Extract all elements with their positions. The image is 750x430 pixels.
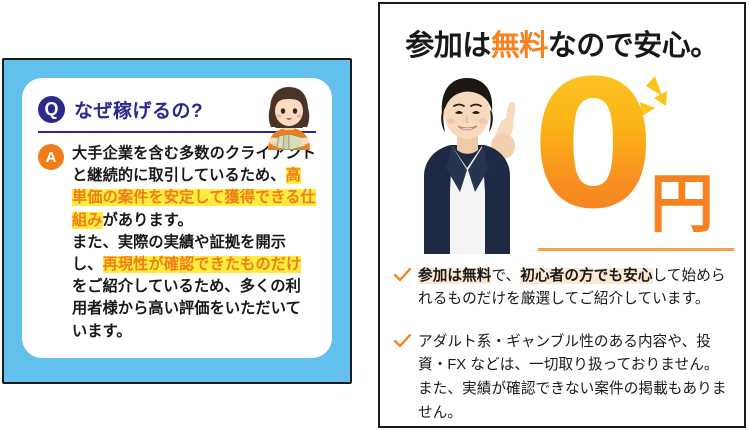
bullet-text: アダルト系・ギャンブル性のある内容や、投資・FX などは、一切取り扱っておりませ… bbox=[418, 331, 728, 426]
answer-row: A 大手企業を含む多数のクライアントと継続的に取引しているため、高単価の案件を安… bbox=[38, 143, 316, 343]
question-badge: Q bbox=[38, 96, 65, 123]
qa-panel: Q なぜ稼げるの? bbox=[2, 58, 352, 384]
hero-graphic-area: 0 円 bbox=[380, 68, 744, 248]
price-unit: 円 bbox=[650, 172, 714, 236]
check-icon bbox=[394, 334, 411, 348]
hero-title-part-0: 参加は bbox=[405, 30, 491, 62]
price-number: 0 bbox=[532, 74, 650, 218]
answer-seg-0: 大手企業を含む多数のクライアントと継続的に取引しているため、 bbox=[72, 145, 316, 184]
answer-seg-4-highlight: 再現性が確認できたものだけ bbox=[103, 256, 302, 273]
check-icon bbox=[394, 268, 411, 282]
answer-badge: A bbox=[38, 144, 64, 170]
bullet-text: 参加は無料で、初心者の方でも安心して始められるものだけを厳選してご紹介しています… bbox=[418, 265, 728, 312]
answer-seg-5: をご紹介しているため、多くの利用者様から高い評価をいただいています。 bbox=[72, 278, 301, 339]
bullet-0-seg-1: で、 bbox=[491, 268, 520, 284]
answer-text: 大手企業を含む多数のクライアントと継続的に取引しているため、高単価の案件を安定し… bbox=[72, 143, 316, 343]
list-item: アダルト系・ギャンブル性のある内容や、投資・FX などは、一切取り扱っておりませ… bbox=[394, 331, 728, 426]
question-title: なぜ稼げるの? bbox=[74, 96, 203, 123]
bullet-list: 参加は無料で、初心者の方でも安心して始められるものだけを厳選してご紹介しています… bbox=[380, 251, 744, 426]
businesswoman-pointing-up-photo bbox=[388, 64, 538, 254]
question-header: Q なぜ稼げるの? bbox=[38, 92, 316, 126]
answer-seg-2: があります。 bbox=[103, 212, 193, 229]
free-participation-panel: 参加は無料なので安心。 bbox=[378, 2, 746, 428]
bullet-0-seg-2: 初心者の方でも安心 bbox=[520, 268, 652, 284]
girl-with-money-fan-illustration bbox=[258, 84, 320, 150]
bullet-0-seg-0: 参加は無料 bbox=[418, 268, 491, 284]
qa-card: Q なぜ稼げるの? bbox=[22, 78, 332, 358]
list-item: 参加は無料で、初心者の方でも安心して始められるものだけを厳選してご紹介しています… bbox=[394, 265, 728, 312]
